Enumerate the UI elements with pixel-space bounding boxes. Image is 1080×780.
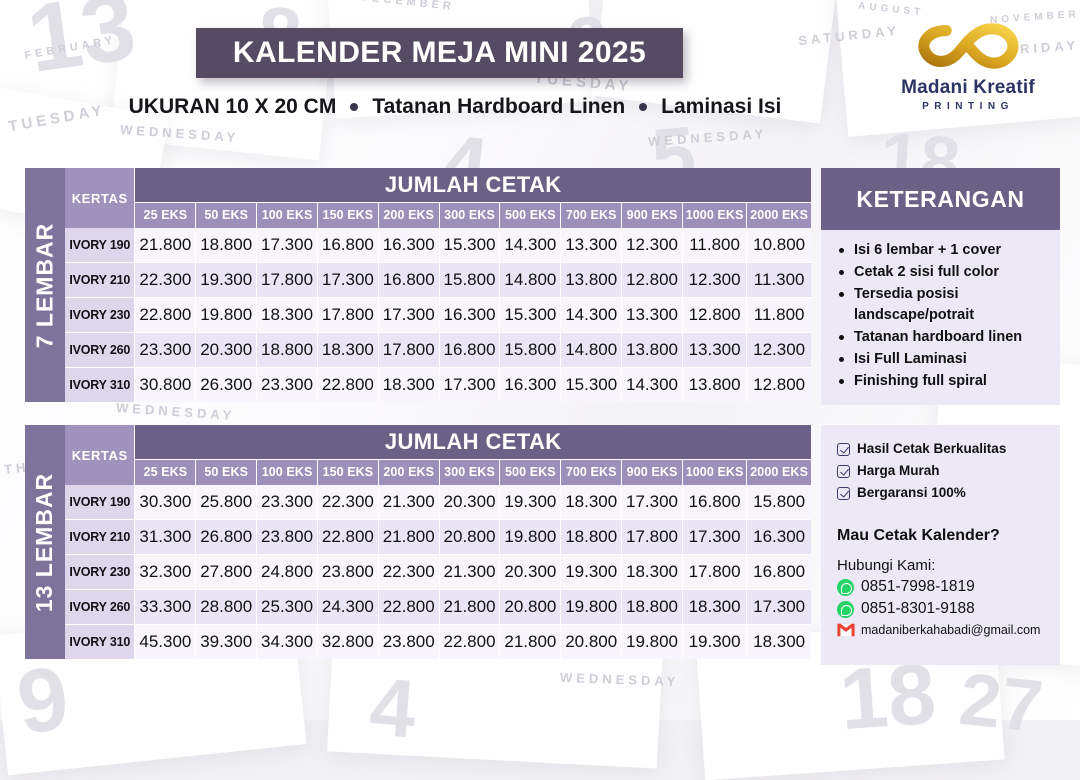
cell-price: 19.300 <box>500 485 561 520</box>
side-label-text: 13 LEMBAR <box>32 472 59 611</box>
cell-price: 13.800 <box>682 367 746 402</box>
cell-price: 13.300 <box>561 228 622 263</box>
logo-name: Madani Kreatif <box>868 77 1068 99</box>
cell-paper: IVORY 310 <box>65 367 135 402</box>
cell-price: 11.800 <box>682 228 746 263</box>
col-header-qty: 50 EKS <box>196 459 257 485</box>
cell-price: 17.800 <box>622 520 683 555</box>
cell-price: 16.300 <box>500 367 561 402</box>
cell-price: 17.800 <box>257 263 318 298</box>
cell-price: 31.300 <box>135 520 196 555</box>
keterangan-header: KETERANGAN <box>821 168 1060 230</box>
cell-price: 15.800 <box>500 332 561 367</box>
col-header-qty: 500 EKS <box>500 459 561 485</box>
cell-price: 20.300 <box>439 485 500 520</box>
benefit-item: Harga Murah <box>837 461 1052 481</box>
cell-price: 20.300 <box>196 332 257 367</box>
col-header-kertas: KERTAS <box>65 168 135 228</box>
benefit-label: Hasil Cetak Berkualitas <box>857 439 1006 459</box>
table-7-lembar: KERTAS JUMLAH CETAK 25 EKS 50 EKS 100 EK… <box>65 168 811 402</box>
subtitle-part-size: UKURAN 10 X 20 CM <box>129 95 337 119</box>
table-header-row: 25 EKS 50 EKS 100 EKS 150 EKS 200 EKS 30… <box>65 202 811 228</box>
contact-panel: Hasil Cetak Berkualitas Harga Murah Berg… <box>821 425 1060 665</box>
cell-price: 12.300 <box>747 332 811 367</box>
cell-price: 19.800 <box>196 298 257 333</box>
table-row: IVORY 260 33.300 28.800 25.300 24.300 22… <box>65 589 811 624</box>
email-row[interactable]: madaniberkahabadi@gmail.com <box>837 623 1052 637</box>
cell-price: 39.300 <box>196 624 257 659</box>
cell-price: 12.800 <box>682 298 746 333</box>
cell-price: 19.300 <box>682 624 746 659</box>
cell-price: 18.800 <box>257 332 318 367</box>
cell-paper: IVORY 260 <box>65 589 135 624</box>
cell-price: 32.300 <box>135 555 196 590</box>
cell-price: 13.800 <box>561 263 622 298</box>
table-row: IVORY 190 21.800 18.800 17.300 16.800 16… <box>65 228 811 263</box>
cell-price: 12.300 <box>622 228 683 263</box>
bullet-separator-icon <box>350 103 358 111</box>
col-header-qty: 2000 EKS <box>747 459 811 485</box>
cell-price: 16.800 <box>378 263 439 298</box>
cell-price: 11.300 <box>747 263 811 298</box>
infinity-icon <box>917 22 1020 70</box>
col-header-qty: 25 EKS <box>135 202 196 228</box>
cell-price: 23.300 <box>135 332 196 367</box>
cell-price: 18.800 <box>622 589 683 624</box>
email-address[interactable]: madaniberkahabadi@gmail.com <box>861 623 1040 637</box>
cell-price: 17.300 <box>317 263 378 298</box>
cell-price: 23.300 <box>257 367 318 402</box>
cell-price: 16.800 <box>747 555 811 590</box>
col-header-qty: 300 EKS <box>439 202 500 228</box>
cell-price: 14.300 <box>561 298 622 333</box>
cell-price: 17.300 <box>747 589 811 624</box>
contact-label: Hubungi Kami: <box>837 557 1052 574</box>
cell-price: 20.800 <box>439 520 500 555</box>
cell-price: 19.800 <box>561 589 622 624</box>
table-row: IVORY 310 30.800 26.300 23.300 22.800 18… <box>65 367 811 402</box>
cell-paper: IVORY 310 <box>65 624 135 659</box>
cell-price: 32.800 <box>317 624 378 659</box>
cell-price: 17.800 <box>378 332 439 367</box>
cell-price: 28.800 <box>196 589 257 624</box>
phone-row-1[interactable]: 0851-7998-1819 <box>837 578 1052 596</box>
col-header-qty: 50 EKS <box>196 202 257 228</box>
col-header-qty: 150 EKS <box>317 459 378 485</box>
cell-price: 13.800 <box>622 332 683 367</box>
cell-price: 15.300 <box>439 228 500 263</box>
col-header-qty: 500 EKS <box>500 202 561 228</box>
benefit-label: Harga Murah <box>857 461 940 481</box>
cell-price: 18.300 <box>747 624 811 659</box>
logo-tagline: PRINTING <box>868 101 1068 112</box>
keterangan-panel: Isi 6 lembar + 1 cover Cetak 2 sisi full… <box>821 230 1060 405</box>
cell-price: 24.300 <box>317 589 378 624</box>
table-row: IVORY 190 30.300 25.800 23.300 22.300 21… <box>65 485 811 520</box>
cell-price: 19.800 <box>500 520 561 555</box>
cell-price: 13.300 <box>682 332 746 367</box>
col-header-qty: 200 EKS <box>378 459 439 485</box>
cell-price: 18.800 <box>196 228 257 263</box>
cell-price: 16.300 <box>378 228 439 263</box>
cell-price: 12.300 <box>682 263 746 298</box>
cell-price: 21.800 <box>500 624 561 659</box>
page-title-banner: KALENDER MEJA MINI 2025 <box>196 28 683 78</box>
side-label-7-lembar: 7 LEMBAR <box>25 168 65 402</box>
cell-price: 21.800 <box>378 520 439 555</box>
cell-price: 26.300 <box>196 367 257 402</box>
list-item: Tatanan hardboard linen <box>837 327 1052 348</box>
keterangan-title: KETERANGAN <box>856 186 1024 213</box>
cell-price: 19.800 <box>622 624 683 659</box>
cell-price: 20.800 <box>561 624 622 659</box>
cell-price: 11.800 <box>747 298 811 333</box>
cell-price: 17.300 <box>378 298 439 333</box>
bullet-separator-icon <box>639 103 647 111</box>
cell-price: 24.800 <box>257 555 318 590</box>
table-row: IVORY 260 23.300 20.300 18.800 18.300 17… <box>65 332 811 367</box>
cell-price: 15.800 <box>439 263 500 298</box>
table-row: IVORY 230 32.300 27.800 24.800 23.800 22… <box>65 555 811 590</box>
cell-price: 18.300 <box>317 332 378 367</box>
cell-price: 20.300 <box>500 555 561 590</box>
cell-price: 27.800 <box>196 555 257 590</box>
brand-logo: Madani Kreatif PRINTING <box>868 22 1068 112</box>
cell-price: 14.800 <box>500 263 561 298</box>
side-label-13-lembar: 13 LEMBAR <box>25 425 65 659</box>
cell-price: 30.300 <box>135 485 196 520</box>
cell-price: 22.800 <box>439 624 500 659</box>
cta-text: Mau Cetak Kalender? <box>837 527 1052 545</box>
cell-paper: IVORY 260 <box>65 332 135 367</box>
cell-price: 22.800 <box>378 589 439 624</box>
cell-price: 22.300 <box>378 555 439 590</box>
benefit-item: Bergaransi 100% <box>837 483 1052 503</box>
subtitle-part-lamination: Laminasi Isi <box>661 95 781 119</box>
cell-price: 23.800 <box>378 624 439 659</box>
cell-price: 22.300 <box>317 485 378 520</box>
cell-price: 34.300 <box>257 624 318 659</box>
col-header-qty: 700 EKS <box>561 202 622 228</box>
cell-price: 14.300 <box>500 228 561 263</box>
cell-price: 15.800 <box>747 485 811 520</box>
phone-row-2[interactable]: 0851-8301-9188 <box>837 600 1052 618</box>
cell-price: 22.800 <box>317 520 378 555</box>
list-item: Isi 6 lembar + 1 cover <box>837 240 1052 261</box>
cell-price: 14.800 <box>561 332 622 367</box>
subtitle-bar: UKURAN 10 X 20 CM Tatanan Hardboard Line… <box>60 95 850 119</box>
cell-price: 18.300 <box>561 485 622 520</box>
cell-price: 22.800 <box>317 367 378 402</box>
cell-price: 21.800 <box>135 228 196 263</box>
cell-price: 16.800 <box>317 228 378 263</box>
col-header-qty: 700 EKS <box>561 459 622 485</box>
cell-price: 17.800 <box>317 298 378 333</box>
col-header-qty: 300 EKS <box>439 459 500 485</box>
subtitle-part-material: Tatanan Hardboard Linen <box>372 95 625 119</box>
cell-price: 15.300 <box>561 367 622 402</box>
cell-price: 19.300 <box>561 555 622 590</box>
col-header-qty: 900 EKS <box>622 459 683 485</box>
cell-price: 12.800 <box>747 367 811 402</box>
cell-price: 18.800 <box>561 520 622 555</box>
table-13-lembar: KERTAS JUMLAH CETAK 25 EKS 50 EKS 100 EK… <box>65 425 811 659</box>
poster-root: KALENDER MEJA MINI 2025 UKURAN 10 X 20 C… <box>0 0 1080 720</box>
gmail-icon[interactable] <box>837 623 855 637</box>
phone-number[interactable]: 0851-7998-1819 <box>861 578 975 596</box>
list-item: Isi Full Laminasi <box>837 349 1052 370</box>
col-header-kertas: KERTAS <box>65 425 135 485</box>
benefit-item: Hasil Cetak Berkualitas <box>837 439 1052 459</box>
table-header-row: 25 EKS 50 EKS 100 EKS 150 EKS 200 EKS 30… <box>65 459 811 485</box>
cell-price: 22.300 <box>135 263 196 298</box>
cell-price: 10.800 <box>747 228 811 263</box>
cell-price: 23.800 <box>257 520 318 555</box>
cell-price: 21.300 <box>439 555 500 590</box>
cell-price: 26.800 <box>196 520 257 555</box>
cell-price: 30.800 <box>135 367 196 402</box>
cell-paper: IVORY 210 <box>65 263 135 298</box>
whatsapp-icon[interactable] <box>837 601 854 618</box>
cell-price: 17.300 <box>622 485 683 520</box>
price-table-7-lembar: 7 LEMBAR KERTAS JUMLAH CETAK 25 EKS 50 E… <box>25 168 811 402</box>
cell-price: 22.800 <box>135 298 196 333</box>
table-row: IVORY 310 45.300 39.300 34.300 32.800 23… <box>65 624 811 659</box>
cell-price: 17.300 <box>439 367 500 402</box>
cell-price: 25.300 <box>257 589 318 624</box>
cell-price: 23.300 <box>257 485 318 520</box>
cell-price: 33.300 <box>135 589 196 624</box>
cell-price: 15.300 <box>500 298 561 333</box>
cell-price: 18.300 <box>378 367 439 402</box>
col-header-qty: 1000 EKS <box>682 459 746 485</box>
cell-paper: IVORY 230 <box>65 555 135 590</box>
col-header-qty: 200 EKS <box>378 202 439 228</box>
cell-price: 13.300 <box>622 298 683 333</box>
benefit-label: Bergaransi 100% <box>857 483 966 503</box>
check-icon <box>837 487 850 500</box>
col-header-qty: 100 EKS <box>257 459 318 485</box>
col-header-jumlah-cetak: JUMLAH CETAK <box>135 425 811 459</box>
cell-price: 17.300 <box>682 520 746 555</box>
cell-price: 16.800 <box>439 332 500 367</box>
cell-price: 12.800 <box>622 263 683 298</box>
col-header-qty: 1000 EKS <box>682 202 746 228</box>
cell-price: 45.300 <box>135 624 196 659</box>
list-item: Cetak 2 sisi full color <box>837 262 1052 283</box>
cell-price: 17.300 <box>257 228 318 263</box>
page-title: KALENDER MEJA MINI 2025 <box>233 36 646 70</box>
cell-price: 16.800 <box>682 485 746 520</box>
table-row: IVORY 210 31.300 26.800 23.800 22.800 21… <box>65 520 811 555</box>
cell-price: 18.300 <box>257 298 318 333</box>
cell-paper: IVORY 190 <box>65 228 135 263</box>
cell-price: 19.300 <box>196 263 257 298</box>
list-item: Finishing full spiral <box>837 371 1052 392</box>
col-header-qty: 150 EKS <box>317 202 378 228</box>
cell-paper: IVORY 210 <box>65 520 135 555</box>
cell-paper: IVORY 190 <box>65 485 135 520</box>
cell-price: 18.300 <box>622 555 683 590</box>
col-header-qty: 2000 EKS <box>747 202 811 228</box>
cell-price: 25.800 <box>196 485 257 520</box>
price-table-13-lembar: 13 LEMBAR KERTAS JUMLAH CETAK 25 EKS 50 … <box>25 425 811 659</box>
cell-price: 16.300 <box>747 520 811 555</box>
list-item: Tersedia posisi landscape/potrait <box>837 284 1052 326</box>
cell-price: 21.300 <box>378 485 439 520</box>
col-header-qty: 100 EKS <box>257 202 318 228</box>
col-header-qty: 25 EKS <box>135 459 196 485</box>
cell-price: 23.800 <box>317 555 378 590</box>
cell-price: 18.300 <box>682 589 746 624</box>
table-row: IVORY 210 22.300 19.300 17.800 17.300 16… <box>65 263 811 298</box>
side-label-text: 7 LEMBAR <box>32 222 59 348</box>
check-icon <box>837 443 850 456</box>
cell-price: 14.300 <box>622 367 683 402</box>
cell-paper: IVORY 230 <box>65 298 135 333</box>
cell-price: 16.300 <box>439 298 500 333</box>
whatsapp-icon[interactable] <box>837 579 854 596</box>
keterangan-list: Isi 6 lembar + 1 cover Cetak 2 sisi full… <box>837 240 1052 392</box>
col-header-jumlah-cetak: JUMLAH CETAK <box>135 168 811 202</box>
cell-price: 20.800 <box>500 589 561 624</box>
cell-price: 21.800 <box>439 589 500 624</box>
cell-price: 17.800 <box>682 555 746 590</box>
phone-number[interactable]: 0851-8301-9188 <box>861 600 975 618</box>
col-header-qty: 900 EKS <box>622 202 683 228</box>
check-icon <box>837 465 850 478</box>
table-row: IVORY 230 22.800 19.800 18.300 17.800 17… <box>65 298 811 333</box>
